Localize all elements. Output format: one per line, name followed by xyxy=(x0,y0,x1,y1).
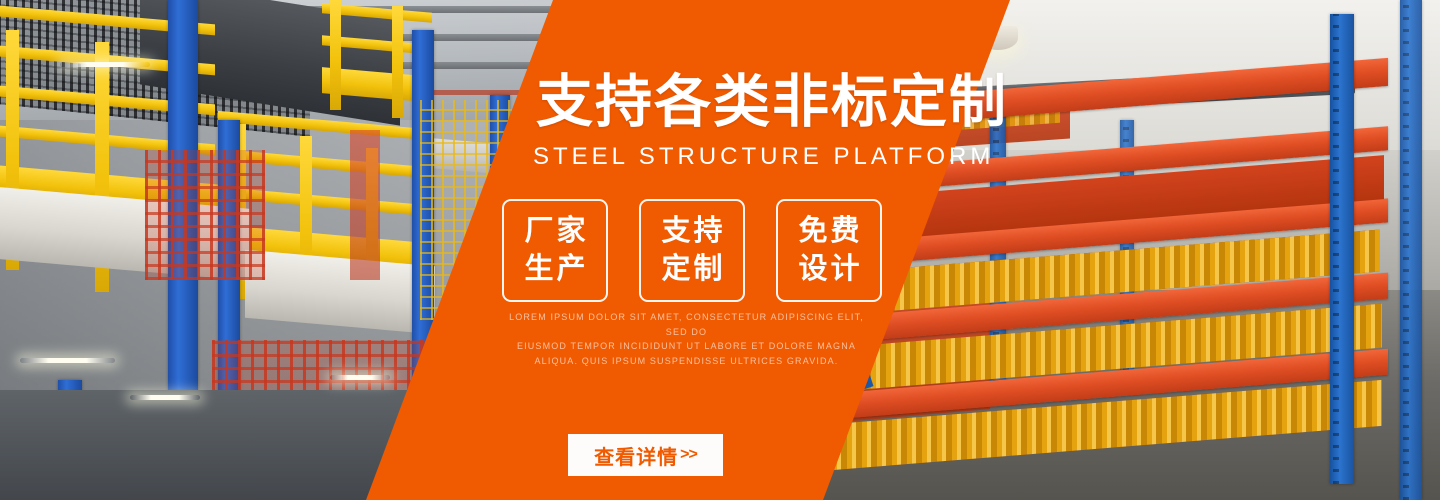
subheadline: STEEL STRUCTURE PLATFORM xyxy=(533,144,994,170)
headline: 支持各类非标定制 xyxy=(536,74,1008,131)
cta-label: 查看详情 xyxy=(594,441,678,470)
badge-line-2: 生产 xyxy=(521,251,588,288)
badge-free-design[interactable]: 免费 设计 xyxy=(776,199,882,302)
badge-customization[interactable]: 支持 定制 xyxy=(639,199,745,302)
feature-badges: 厂家 生产 支持 定制 免费 设计 xyxy=(502,199,882,302)
chevron-right-icon: >> xyxy=(680,446,697,464)
badge-line-1: 厂家 xyxy=(521,213,588,250)
badge-line-2: 设计 xyxy=(795,251,862,288)
badge-line-2: 定制 xyxy=(658,251,725,288)
promo-banner: 支持各类非标定制 STEEL STRUCTURE PLATFORM 厂家 生产 … xyxy=(0,0,1440,500)
banner-content: 支持各类非标定制 STEEL STRUCTURE PLATFORM 厂家 生产 … xyxy=(0,0,1440,500)
badge-line-1: 支持 xyxy=(658,213,725,250)
view-details-button[interactable]: 查看详情 >> xyxy=(568,434,723,476)
badge-manufacturer[interactable]: 厂家 生产 xyxy=(502,199,608,302)
badge-line-1: 免费 xyxy=(795,213,862,250)
lorem-paragraph: LOREM IPSUM DOLOR SIT AMET, CONSECTETUR … xyxy=(509,310,864,368)
